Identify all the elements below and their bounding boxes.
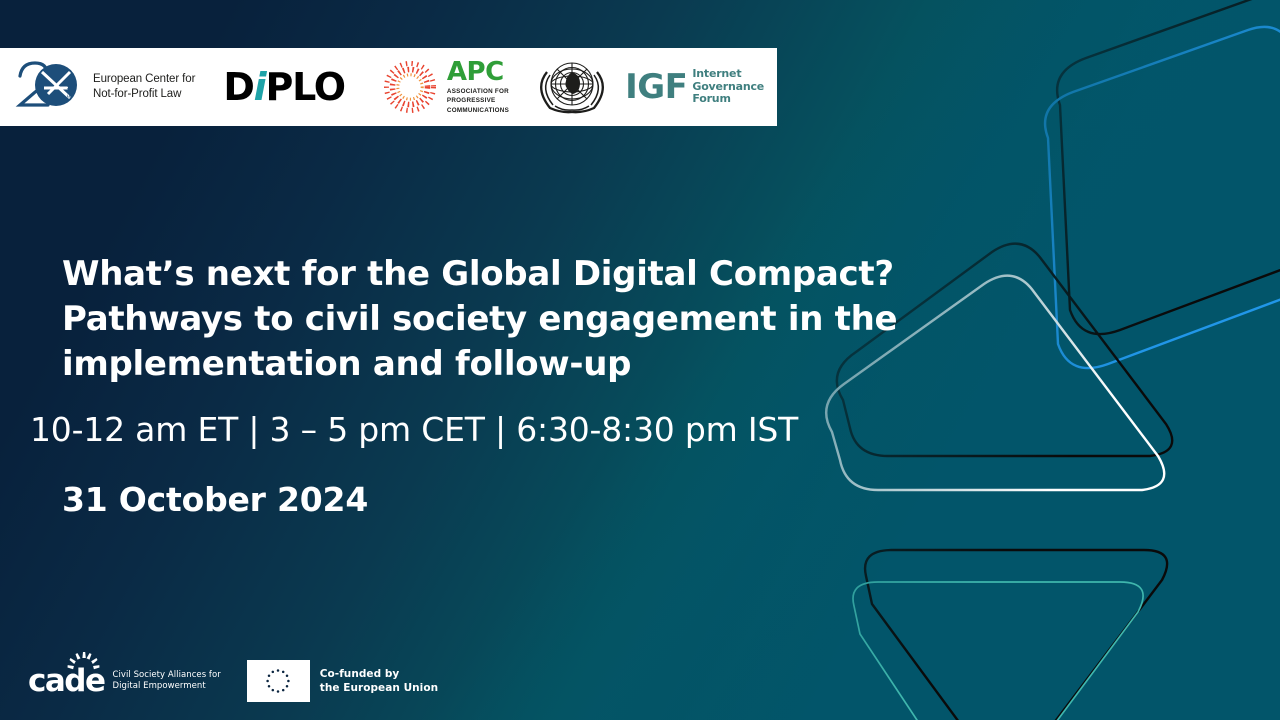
rounded-triangle-bottom-black [865,550,1167,720]
diplo-wordmark: DiPLO [223,68,345,106]
cade-tagline: Civil Society Alliances for Digital Empo… [113,670,221,694]
apc-acronym: APC [447,59,509,85]
partner-logo-bar: YEARS European Center for Not-for-Profit… [0,48,777,126]
cade-wordmark: cade [28,668,105,694]
ecnl-label: European Center for Not-for-Profit Law [93,72,195,102]
logo-eu: Co-funded by the European Union [247,660,438,702]
diplo-word-plo: PLO [265,65,344,109]
igf-acronym: IGF [625,70,687,104]
session-times: 10-12 am ET | 3 – 5 pm CET | 6:30-8:30 p… [30,410,798,449]
svg-text:YEARS: YEARS [67,83,73,101]
eu-stars-icon [256,666,300,696]
logo-igf: IGF Internet Governance Forum [625,48,764,126]
rounded-triangle-bottom-teal [853,582,1143,720]
footer-logos: cade Civil Society Alliances for Digital… [28,660,438,702]
rounded-triangle-top-blue [1045,27,1280,368]
logo-ecnl: YEARS European Center for Not-for-Profit… [0,48,195,126]
page-title: What’s next for the Global Digital Compa… [62,252,922,388]
cade-burst-icon [67,652,101,672]
logo-apc: APC ASSOCIATION FOR PROGRESSIVE COMMUNIC… [381,48,509,126]
united-nations-emblem-icon [533,58,611,116]
main-copy: What’s next for the Global Digital Compa… [62,252,922,388]
ecnl-20-years-icon: YEARS [14,57,84,117]
diplo-word-i: i [254,65,266,109]
european-union-flag-icon [247,660,310,702]
rounded-triangle-top-black [1057,0,1280,334]
apc-subtitle: ASSOCIATION FOR PROGRESSIVE COMMUNICATIO… [447,87,509,114]
eu-funding-label: Co-funded by the European Union [320,667,438,696]
event-promo-slide: YEARS European Center for Not-for-Profit… [0,0,1280,720]
diplo-word-d: D [223,65,253,109]
logo-diplo: DiPLO [223,48,345,126]
logo-cade: cade Civil Society Alliances for Digital… [28,668,221,694]
event-date: 31 October 2024 [62,480,368,519]
apc-label: APC ASSOCIATION FOR PROGRESSIVE COMMUNIC… [447,59,509,114]
igf-subtitle: Internet Governance Forum [692,68,764,107]
logo-un [533,48,611,126]
apc-sunburst-icon [381,58,439,116]
